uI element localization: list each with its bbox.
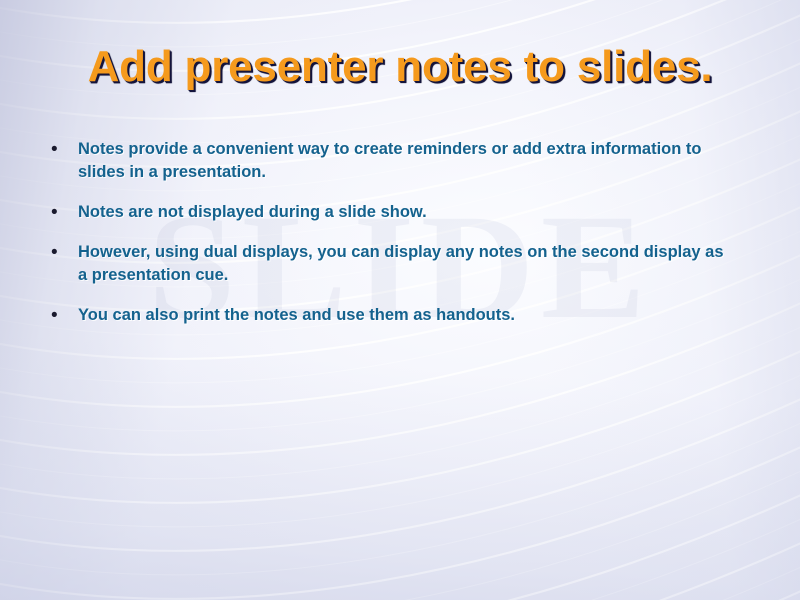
- list-item: • Notes provide a convenient way to crea…: [44, 138, 750, 184]
- bullet-point-icon: •: [44, 138, 78, 161]
- bullet-text: Notes are not displayed during a slide s…: [78, 201, 726, 224]
- list-item: • You can also print the notes and use t…: [44, 304, 750, 327]
- list-item: • However, using dual displays, you can …: [44, 241, 750, 287]
- slide-title-container: Add presenter notes to slides.: [0, 44, 800, 90]
- presentation-slide: SLIDE Add presenter notes to slides. • N…: [0, 0, 800, 600]
- slide-body-bullet-list: • Notes provide a convenient way to crea…: [44, 138, 750, 327]
- bullet-point-icon: •: [44, 241, 78, 264]
- bullet-text: However, using dual displays, you can di…: [78, 241, 726, 287]
- bullet-point-icon: •: [44, 201, 78, 224]
- slide-title: Add presenter notes to slides.: [88, 44, 713, 90]
- bullet-point-icon: •: [44, 304, 78, 327]
- bullet-text: You can also print the notes and use the…: [78, 304, 726, 327]
- bullet-text: Notes provide a convenient way to create…: [78, 138, 726, 184]
- list-item: • Notes are not displayed during a slide…: [44, 201, 750, 224]
